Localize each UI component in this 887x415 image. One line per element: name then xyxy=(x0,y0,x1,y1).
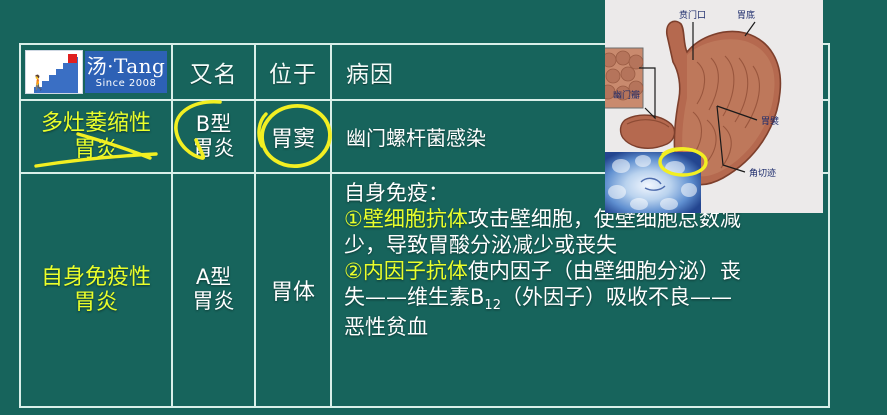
cause-key-1: 壁细胞抗体 xyxy=(363,207,468,231)
cardia-label: 贲门口 xyxy=(679,9,706,21)
micrograph-art xyxy=(605,152,701,213)
stomach-anatomy-image: 贲门口 胃底 幽门瓣 胃襞 角切迹 xyxy=(605,0,823,213)
cause-vitamin-base: 维生素B xyxy=(407,285,484,309)
cause-line-4: 失——维生素B12（外因子）吸收不良—— xyxy=(344,284,741,314)
logo-since-text: Since 2008 xyxy=(96,78,157,89)
row1-alias-line1: B型 xyxy=(196,112,231,136)
row1-name-cell: 多灶萎缩性 胃炎 xyxy=(21,101,173,172)
row1-alias: B型 胃炎 xyxy=(193,113,235,161)
row1-alias-line2: 胃炎 xyxy=(193,137,235,161)
row1-name-line1: 多灶萎缩性 xyxy=(41,111,151,136)
row1-name-line2: 胃炎 xyxy=(41,137,151,162)
h-pylori-micrograph xyxy=(605,152,701,213)
row1-name: 多灶萎缩性 胃炎 xyxy=(41,111,151,161)
cause-line-3: ②内因子抗体使内因子（由壁细胞分泌）丧 xyxy=(344,258,741,284)
cause-line-5: 恶性贫血 xyxy=(344,314,741,340)
row2-alias-cell: A型 胃炎 xyxy=(173,174,256,406)
cause-bullet-2: ② xyxy=(344,259,363,283)
header-location-label: 位于 xyxy=(269,55,317,89)
row2-location-cell: 胃体 xyxy=(256,174,332,406)
row1-location-cell: 胃窦 xyxy=(256,101,332,172)
red-flag-icon xyxy=(68,54,77,63)
brand-logo-cell: 🚶 汤·Tang Since 2008 xyxy=(21,45,173,99)
row2-location: 胃体 xyxy=(271,274,315,306)
cause-rest-2: 使内因子（由壁细胞分泌）丧 xyxy=(468,259,741,283)
cause-line-4-suffix: （外因子）吸收不良—— xyxy=(501,285,732,309)
header-cause-label: 病因 xyxy=(346,55,394,89)
row2-name-line1: 自身免疫性 xyxy=(41,265,151,290)
header-alias-label: 又名 xyxy=(190,55,238,89)
cause-bullet-1: ① xyxy=(344,207,363,231)
header-location: 位于 xyxy=(256,45,332,99)
row2-alias-line1: A型 xyxy=(196,265,231,289)
row2-alias-line2: 胃炎 xyxy=(193,290,235,314)
row2-name: 自身免疫性 胃炎 xyxy=(41,265,151,315)
cause-line-4-prefix: 失—— xyxy=(344,285,407,309)
gastric-rugae-label: 胃襞 xyxy=(761,115,779,127)
row1-location: 胃窦 xyxy=(271,121,315,153)
row1-alias-cell: B型 胃炎 xyxy=(173,101,256,172)
row2-name-cell: 自身免疫性 胃炎 xyxy=(21,174,173,406)
logo-brand-text: 汤·Tang xyxy=(87,56,166,77)
angular-incisure-label: 角切迹 xyxy=(749,167,776,179)
logo: 🚶 汤·Tang Since 2008 xyxy=(21,45,171,99)
cause-line-2: 少，导致胃酸分泌减少或丧失 xyxy=(344,232,741,258)
row2-alias: A型 胃炎 xyxy=(193,266,235,314)
header-alias: 又名 xyxy=(173,45,256,99)
cause-vitamin-subscript: 12 xyxy=(484,298,501,313)
fundus-label: 胃底 xyxy=(737,9,755,21)
pyloric-valve-label: 幽门瓣 xyxy=(613,89,640,101)
logo-wordmark: 汤·Tang Since 2008 xyxy=(85,51,167,93)
cause-key-2: 内因子抗体 xyxy=(363,259,468,283)
slide-canvas: 🚶 汤·Tang Since 2008 又名 位于 病因 xyxy=(0,0,887,415)
row2-name-line2: 胃炎 xyxy=(41,290,151,315)
running-man-icon: 🚶 xyxy=(29,76,48,91)
logo-mark: 🚶 xyxy=(25,50,83,94)
